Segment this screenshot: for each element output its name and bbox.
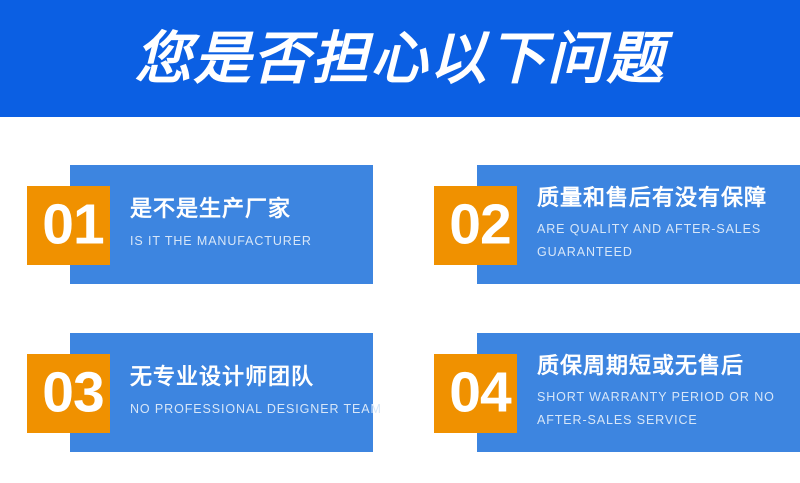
card-number-label: 04 xyxy=(434,364,526,421)
card-subtitle-line-1: ARE QUALITY AND AFTER-SALES xyxy=(537,218,767,241)
page-title: 您是否担心以下问题 xyxy=(135,31,666,88)
card-title: 质保周期短或无售后 xyxy=(537,353,775,379)
card-number-label: 03 xyxy=(27,364,119,421)
card-number-label: 02 xyxy=(434,196,526,253)
concern-card-grid: 01 是不是生产厂家 IS IT THE MANUFACTURER 02 质量和… xyxy=(0,117,800,483)
card-title: 无专业设计师团队 xyxy=(130,364,382,390)
card-text-block: 质量和售后有没有保障 ARE QUALITY AND AFTER-SALES G… xyxy=(537,165,767,284)
concern-card-01: 01 是不是生产厂家 IS IT THE MANUFACTURER xyxy=(27,165,373,284)
header-banner: 您是否担心以下问题 xyxy=(0,0,800,117)
card-title: 质量和售后有没有保障 xyxy=(537,185,767,211)
concern-card-02: 02 质量和售后有没有保障 ARE QUALITY AND AFTER-SALE… xyxy=(434,165,780,284)
card-title: 是不是生产厂家 xyxy=(130,196,312,222)
concern-card-03: 03 无专业设计师团队 NO PROFESSIONAL DESIGNER TEA… xyxy=(27,333,373,452)
card-subtitle-line-1: NO PROFESSIONAL DESIGNER TEAM xyxy=(130,398,382,421)
card-subtitle-line-1: SHORT WARRANTY PERIOD OR NO xyxy=(537,386,775,409)
card-text-block: 质保周期短或无售后 SHORT WARRANTY PERIOD OR NO AF… xyxy=(537,333,775,452)
concern-card-04: 04 质保周期短或无售后 SHORT WARRANTY PERIOD OR NO… xyxy=(434,333,780,452)
card-subtitle-line-1: IS IT THE MANUFACTURER xyxy=(130,230,312,253)
card-subtitle-line-2: AFTER-SALES SERVICE xyxy=(537,409,775,432)
card-number-label: 01 xyxy=(27,196,119,253)
card-text-block: 无专业设计师团队 NO PROFESSIONAL DESIGNER TEAM xyxy=(130,333,382,452)
card-text-block: 是不是生产厂家 IS IT THE MANUFACTURER xyxy=(130,165,312,284)
card-subtitle-line-2: GUARANTEED xyxy=(537,241,767,264)
